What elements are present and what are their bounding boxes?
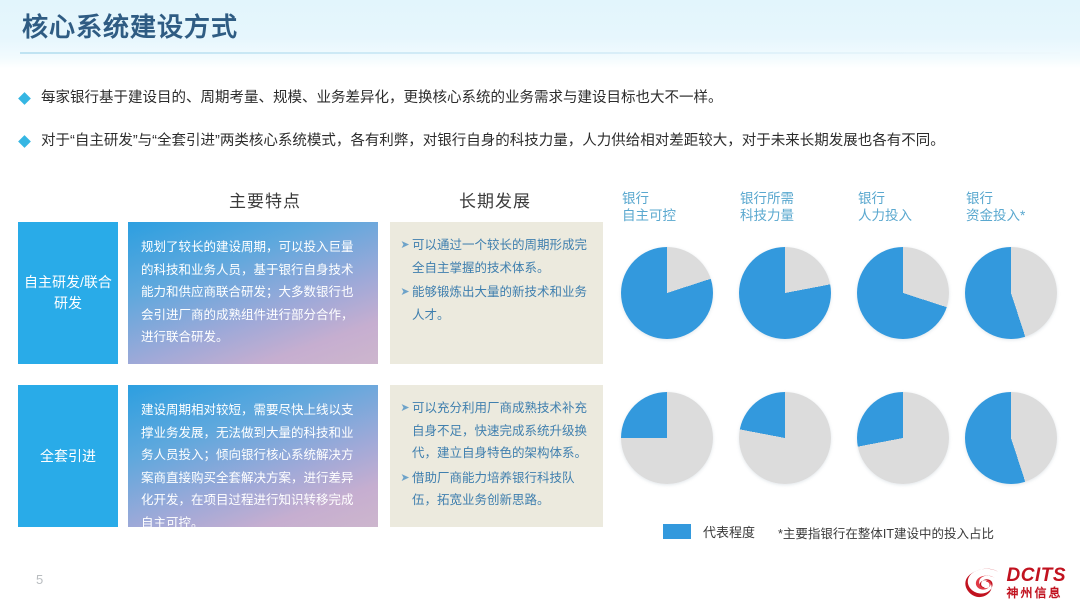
bullet-item: 每家银行基于建设目的、周期考量、规模、业务差异化，更换核心系统的业务需求与建设目… xyxy=(20,88,723,108)
bullet-item: 对于“自主研发”与“全套引进”两类核心系统模式，各有利弊，对银行自身的科技力量，… xyxy=(20,131,945,151)
arrow-right-icon: ➤ xyxy=(398,467,412,490)
bullet-text: 对于“自主研发”与“全套引进”两类核心系统模式，各有利弊，对银行自身的科技力量，… xyxy=(41,131,945,151)
list-item: ➤ 借助厂商能力培养银行科技队伍，拓宽业务创新思路。 xyxy=(398,467,593,512)
legend-swatch-filled xyxy=(663,524,691,539)
logo-text: DCITS 神州信息 xyxy=(1007,566,1067,599)
list-item: ➤ 可以通过一个较长的周期形成完全自主掌握的技术体系。 xyxy=(398,234,593,279)
pie-chart-r1-c2 xyxy=(739,247,831,339)
diamond-bullet-icon xyxy=(18,92,31,105)
column-header-longterm: 长期发展 xyxy=(390,187,600,212)
row-longterm-full-purchase: ➤ 可以充分利用厂商成熟技术补充自身不足，快速完成系统升级换代，建立自身特色的架… xyxy=(390,385,603,527)
legend-label: 代表程度 xyxy=(703,522,755,541)
pie-header-2: 银行所需 科技力量 xyxy=(740,190,794,224)
page-title: 核心系统建设方式 xyxy=(22,11,238,43)
row-label-self-developed: 自主研发/联合研发 xyxy=(18,222,118,364)
company-logo: DCITS 神州信息 xyxy=(964,566,1067,599)
dcits-swirl-icon xyxy=(964,568,1002,598)
arrow-right-icon: ➤ xyxy=(398,281,412,304)
pie-chart-r2-c4 xyxy=(965,392,1057,484)
chart-footnote: *主要指银行在整体IT建设中的投入占比 xyxy=(778,523,994,542)
pie-chart-r2-c2 xyxy=(739,392,831,484)
title-divider xyxy=(20,52,1060,54)
list-item: ➤ 可以充分利用厂商成熟技术补充自身不足，快速完成系统升级换代，建立自身特色的架… xyxy=(398,397,593,465)
pie-header-3: 银行 人力投入 xyxy=(858,190,912,224)
pie-chart-r1-c4 xyxy=(965,247,1057,339)
list-item: ➤ 能够锻炼出大量的新技术和业务人才。 xyxy=(398,281,593,326)
row-label-full-purchase: 全套引进 xyxy=(18,385,118,527)
chart-legend: 代表程度 xyxy=(663,522,755,541)
arrow-right-icon: ➤ xyxy=(398,234,412,257)
pie-chart-r2-c3 xyxy=(857,392,949,484)
logo-subtitle: 神州信息 xyxy=(1007,587,1067,599)
column-header-features: 主要特点 xyxy=(170,187,360,212)
row-description-full-purchase: 建设周期相对较短，需要尽快上线以支撑业务发展，无法做到大量的科技和业务人员投入；… xyxy=(128,385,378,527)
pie-chart-r2-c1 xyxy=(621,392,713,484)
logo-name: DCITS xyxy=(1007,566,1067,585)
bullet-text: 每家银行基于建设目的、周期考量、规模、业务差异化，更换核心系统的业务需求与建设目… xyxy=(41,88,723,108)
list-item-text: 可以通过一个较长的周期形成完全自主掌握的技术体系。 xyxy=(412,234,593,279)
pie-chart-r1-c1 xyxy=(621,247,713,339)
row-longterm-self-developed: ➤ 可以通过一个较长的周期形成完全自主掌握的技术体系。 ➤ 能够锻炼出大量的新技… xyxy=(390,222,603,364)
diamond-bullet-icon xyxy=(18,135,31,148)
pie-header-4: 银行 资金投入* xyxy=(966,190,1025,224)
row-description-self-developed: 规划了较长的建设周期，可以投入巨量的科技和业务人员，基于银行自身技术能力和供应商… xyxy=(128,222,378,364)
list-item-text: 可以充分利用厂商成熟技术补充自身不足，快速完成系统升级换代，建立自身特色的架构体… xyxy=(412,397,593,465)
page-number: 5 xyxy=(36,572,43,587)
pie-chart-r1-c3 xyxy=(857,247,949,339)
list-item-text: 借助厂商能力培养银行科技队伍，拓宽业务创新思路。 xyxy=(412,467,593,512)
list-item-text: 能够锻炼出大量的新技术和业务人才。 xyxy=(412,281,593,326)
pie-header-1: 银行 自主可控 xyxy=(622,190,676,224)
arrow-right-icon: ➤ xyxy=(398,397,412,420)
